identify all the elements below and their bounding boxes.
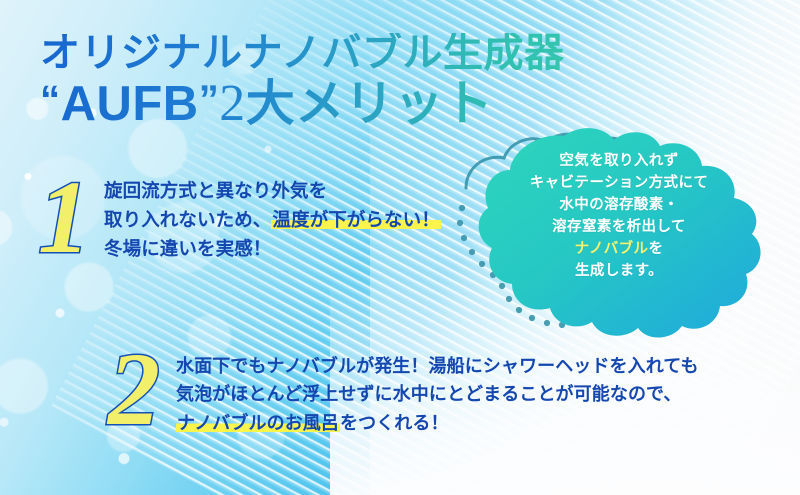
- merit-2-line-1: 水面下でもナノバブルが発生！湯船にシャワーヘッドを入れても: [176, 352, 699, 380]
- merit-1-line-1-text: 旋回流方式と異なり外気を: [104, 180, 327, 201]
- cloud-line-6: 生成します。: [488, 260, 750, 282]
- merit-2-line-3-text: をつくれる！: [340, 413, 449, 433]
- cloud-line-5-suffix: を: [648, 241, 663, 257]
- merit-2-line-2: 気泡がほとんど浮上せずに水中にとどまることが可能なので、: [176, 380, 699, 408]
- title-merit-count: 2: [219, 75, 245, 132]
- merit-number-1: 1: [38, 170, 90, 266]
- banner-title: オリジナルナノバブル生成器 “AUFB”2大メリット: [40, 33, 565, 131]
- title-quote-open: “: [40, 76, 61, 121]
- cloud-line-5: ナノバブルを: [488, 238, 750, 260]
- title-quote-close: ”: [199, 76, 220, 121]
- cloud-line-4: 溶存窒素を析出して: [488, 216, 750, 238]
- title-brand: AUFB: [61, 77, 199, 131]
- merit-item-1: 1 旋回流方式と異なり外気を 取り入れないため、温度が下がらない！ 冬場に違いを…: [38, 176, 441, 266]
- cloud-line-2: キャビテーション方式にて: [488, 172, 750, 194]
- merit-1-highlight: 温度が下がらない！: [271, 209, 440, 230]
- merit-1-line-2: 取り入れないため、温度が下がらない！: [104, 205, 441, 234]
- merit-1-line-2-text: 取り入れないため、: [104, 209, 271, 230]
- title-line-2-rest: 大メリット: [246, 77, 494, 131]
- merit-item-2: 2 水面下でもナノバブルが発生！湯船にシャワーヘッドを入れても 気泡がほとんど浮…: [108, 352, 699, 438]
- merit-1-line-3: 冬場に違いを実感！: [104, 234, 441, 263]
- nanobubble-promo-banner: オリジナルナノバブル生成器 “AUFB”2大メリット 1 旋回流方式と異なり外気…: [0, 0, 800, 495]
- merit-text-2: 水面下でもナノバブルが発生！湯船にシャワーヘッドを入れても 気泡がほとんど浮上せ…: [176, 352, 699, 437]
- title-line-1: オリジナルナノバブル生成器: [40, 33, 565, 75]
- cloud-callout: 空気を取り入れず キャビテーション方式にて 水中の溶存酸素・ 溶存窒素を析出して…: [452, 128, 782, 343]
- merit-text-1: 旋回流方式と異なり外気を 取り入れないため、温度が下がらない！ 冬場に違いを実感…: [104, 176, 441, 264]
- cloud-highlight-term: ナノバブル: [575, 241, 649, 257]
- cloud-callout-text: 空気を取り入れず キャビテーション方式にて 水中の溶存酸素・ 溶存窒素を析出して…: [488, 150, 750, 282]
- merit-number-2: 2: [108, 342, 160, 438]
- merit-2-line-2-text: 気泡がほとんど浮上せずに水中にとどまることが可能なので、: [176, 384, 682, 404]
- merit-2-line-1-text: 水面下でもナノバブルが発生！湯船にシャワーヘッドを入れても: [176, 356, 699, 376]
- cloud-line-3: 水中の溶存酸素・: [488, 194, 750, 216]
- title-line-2: “AUFB”2大メリット: [40, 77, 565, 131]
- merit-2-line-3: ナノバブルのお風呂をつくれる！: [176, 409, 699, 437]
- merit-1-line-1: 旋回流方式と異なり外気を: [104, 176, 441, 205]
- merit-1-line-3-text: 冬場に違いを実感！: [104, 238, 271, 259]
- cloud-line-1: 空気を取り入れず: [488, 150, 750, 172]
- merit-2-highlight: ナノバブルのお風呂: [176, 413, 340, 433]
